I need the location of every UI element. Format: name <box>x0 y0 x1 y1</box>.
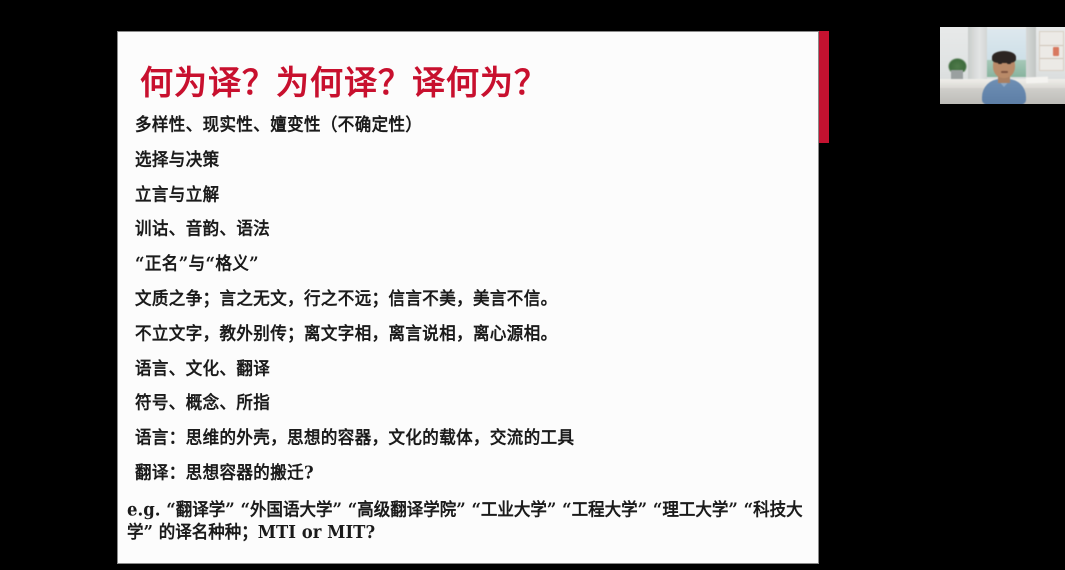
slide-line: “正名”与“格义” <box>127 256 808 273</box>
slide-accent-bar <box>818 31 829 143</box>
slide-body: 多样性、现实性、嬗变性（不确定性） 选择与决策 立言与立解 训诂、音韵、语法 “… <box>127 117 808 543</box>
slide-line: 训诂、音韵、语法 <box>127 221 808 238</box>
video-person-eye-right <box>1007 62 1011 64</box>
video-curtain-left <box>968 27 987 81</box>
video-shelf-divider <box>1040 58 1063 59</box>
slide-title: 何为译？为何译？译何为？ <box>140 56 548 104</box>
slide-line: 符号、概念、所指 <box>127 395 808 412</box>
slide-line: 多样性、现实性、嬗变性（不确定性） <box>127 117 808 134</box>
slide-line: 选择与决策 <box>127 151 808 168</box>
video-shelf-divider <box>1040 45 1063 46</box>
video-person-mouth <box>1001 71 1008 73</box>
slide-example-line: e.g. “翻译学” “外国语大学” “高级翻译学院” “工业大学” “工程大学… <box>127 498 808 543</box>
video-shelf <box>1039 31 1064 71</box>
slide-line: 立言与立解 <box>127 186 808 203</box>
presenter-video-tile[interactable] <box>940 27 1065 104</box>
slide-line: 语言：思维的外壳，思想的容器，文化的载体，交流的工具 <box>127 430 808 447</box>
presentation-stage: 何为译？为何译？译何为？ 多样性、现实性、嬗变性（不确定性） 选择与决策 立言与… <box>0 0 1065 570</box>
video-curtain-right <box>1026 27 1036 79</box>
presentation-slide: 何为译？为何译？译何为？ 多样性、现实性、嬗变性（不确定性） 选择与决策 立言与… <box>118 32 818 563</box>
video-desk-paper <box>1026 77 1048 84</box>
slide-line: 不立文字，教外别传；离文字相，离言说相，离心源相。 <box>127 325 808 342</box>
video-person-hair <box>992 51 1016 63</box>
slide-line: 语言、文化、翻译 <box>127 360 808 377</box>
video-shelf-item <box>1053 47 1059 56</box>
video-person-eye-left <box>998 62 1002 64</box>
slide-line: 文质之争；言之无文，行之不远；信言不美，美言不信。 <box>127 290 808 307</box>
slide-line: 翻译：思想容器的搬迁? <box>127 464 808 481</box>
